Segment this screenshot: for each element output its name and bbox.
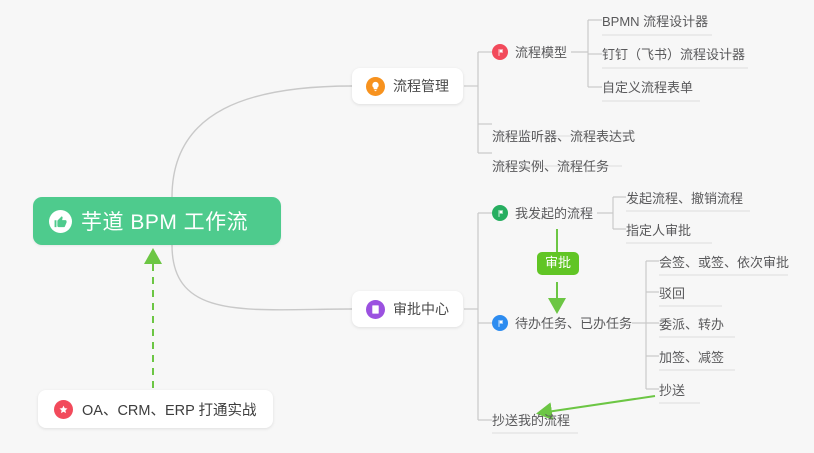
node-label-cc-my-processes: 抄送我的流程 <box>492 414 570 427</box>
node-label-my-initiated-processes: 我发起的流程 <box>515 207 593 220</box>
annotation-badge-label: 审批 <box>545 255 571 270</box>
node-process-instance-task[interactable]: 流程实例、流程任务 <box>492 156 609 176</box>
node-todo-done-tasks[interactable]: 待办任务、已办任务 <box>492 313 632 333</box>
node-label-process-model: 流程模型 <box>515 46 567 59</box>
node-countersign-orsign-sequential[interactable]: 会签、或签、依次审批 <box>659 252 789 272</box>
node-label-countersign-orsign-sequential: 会签、或签、依次审批 <box>659 256 789 269</box>
mindmap-canvas: 芋道 BPM 工作流 流程管理 审批中心 流程模型 流程监听器、流程表达式 <box>0 0 814 453</box>
flag-icon <box>492 315 508 331</box>
node-cc[interactable]: 抄送 <box>659 380 685 400</box>
node-my-initiated-processes[interactable]: 我发起的流程 <box>492 203 593 223</box>
node-label-assignee-approval: 指定人审批 <box>626 224 691 237</box>
node-label-custom-process-form: 自定义流程表单 <box>602 81 693 94</box>
node-assignee-approval[interactable]: 指定人审批 <box>626 220 691 240</box>
node-cc-my-processes[interactable]: 抄送我的流程 <box>492 410 570 430</box>
node-label-process-instance-task: 流程实例、流程任务 <box>492 160 609 173</box>
node-delegate-transfer[interactable]: 委派、转办 <box>659 314 724 334</box>
lightbulb-icon <box>366 77 385 96</box>
link-root-to-approval-center <box>172 245 352 310</box>
node-process-model[interactable]: 流程模型 <box>492 42 567 62</box>
root-label: 芋道 BPM 工作流 <box>81 206 248 236</box>
callout-node-integration-practice[interactable]: OA、CRM、ERP 打通实战 <box>38 390 273 428</box>
node-label-process-listener-expression: 流程监听器、流程表达式 <box>492 130 635 143</box>
node-label-delegate-transfer: 委派、转办 <box>659 318 724 331</box>
branch-label-approval-center: 审批中心 <box>393 299 449 319</box>
node-label-dingtalk-feishu-designer: 钉钉（飞书）流程设计器 <box>602 48 745 61</box>
node-label-cc: 抄送 <box>659 384 685 397</box>
node-label-start-cancel-process: 发起流程、撤销流程 <box>626 192 743 205</box>
annotation-badge-approval[interactable]: 审批 <box>537 252 579 275</box>
callout-label: OA、CRM、ERP 打通实战 <box>82 399 257 420</box>
node-custom-process-form[interactable]: 自定义流程表单 <box>602 77 693 97</box>
branch-label-process-management: 流程管理 <box>393 76 449 96</box>
star-icon <box>54 400 73 419</box>
branch-node-process-management[interactable]: 流程管理 <box>352 68 463 104</box>
branch-node-approval-center[interactable]: 审批中心 <box>352 291 463 327</box>
flag-icon <box>492 205 508 221</box>
node-label-add-remove-sign: 加签、减签 <box>659 351 724 364</box>
node-label-todo-done-tasks: 待办任务、已办任务 <box>515 317 632 330</box>
node-bpmn-designer[interactable]: BPMN 流程设计器 <box>602 11 708 31</box>
link-root-to-process-management <box>172 86 352 197</box>
node-reject[interactable]: 驳回 <box>659 283 685 303</box>
node-start-cancel-process[interactable]: 发起流程、撤销流程 <box>626 188 743 208</box>
node-label-bpmn-designer: BPMN 流程设计器 <box>602 15 708 28</box>
node-add-remove-sign[interactable]: 加签、减签 <box>659 347 724 367</box>
thumbs-up-icon <box>49 210 72 233</box>
clipboard-icon <box>366 300 385 319</box>
node-dingtalk-feishu-designer[interactable]: 钉钉（飞书）流程设计器 <box>602 44 745 64</box>
node-process-listener-expression[interactable]: 流程监听器、流程表达式 <box>492 126 635 146</box>
root-node[interactable]: 芋道 BPM 工作流 <box>33 197 281 245</box>
node-label-reject: 驳回 <box>659 287 685 300</box>
flag-icon <box>492 44 508 60</box>
